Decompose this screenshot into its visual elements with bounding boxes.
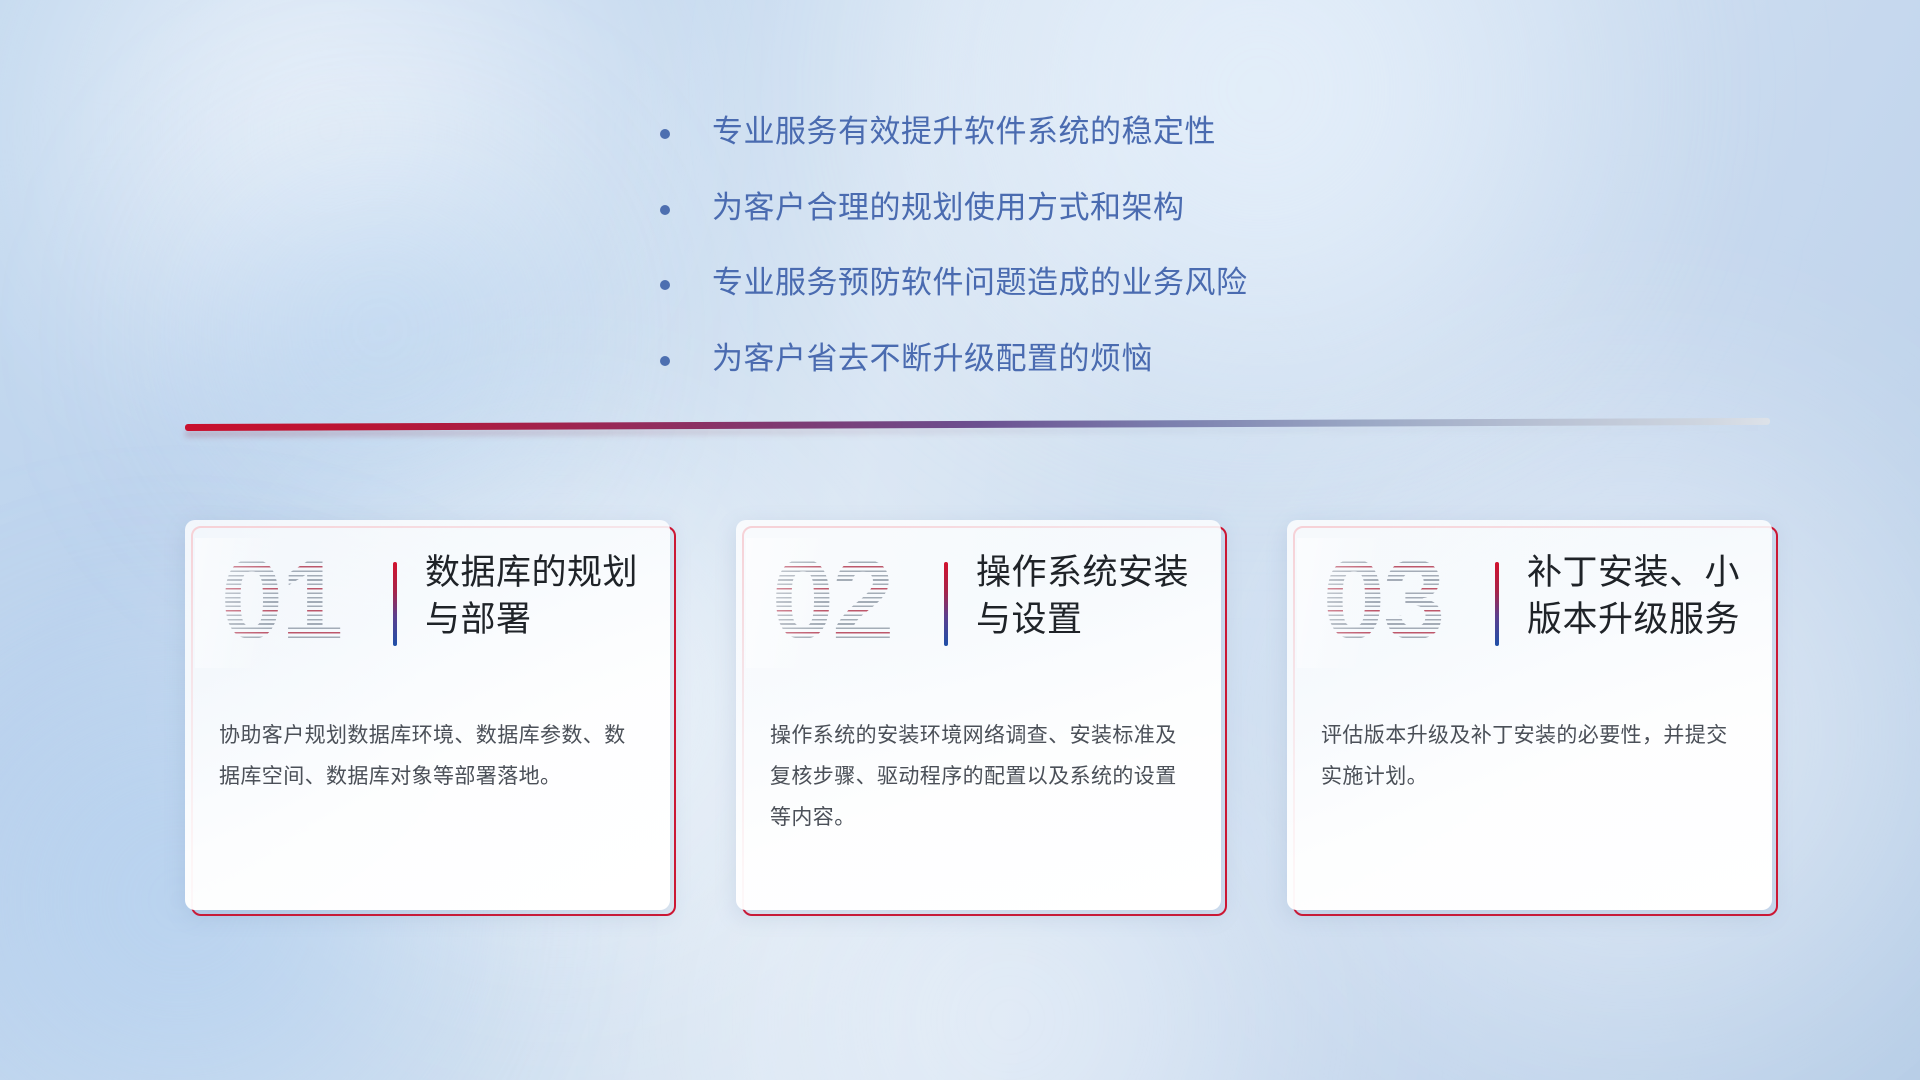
list-item: 为客户省去不断升级配置的烦恼 [660,339,1420,379]
card-number-ghost: 02 [754,544,910,660]
bullet-text: 专业服务预防软件问题造成的业务风险 [712,263,1248,303]
card-surface: 01 01 数据库的规划与部署 协助客户规划数据库环境、数据库参数、数据库空间、… [185,520,670,910]
card-title: 数据库的规划与部署 [425,550,645,643]
list-item: 专业服务有效提升软件系统的稳定性 [660,112,1420,152]
service-card-01[interactable]: 01 01 数据库的规划与部署 协助客户规划数据库环境、数据库参数、数据库空间、… [185,520,670,910]
bullet-dot-icon [660,129,670,139]
bullet-dot-icon [660,205,670,215]
card-title-rule [393,562,397,646]
card-header: 01 01 数据库的规划与部署 [185,520,670,692]
card-title-rule [1495,562,1499,646]
slide-root: 专业服务有效提升软件系统的稳定性 为客户合理的规划使用方式和架构 专业服务预防软… [0,0,1920,1080]
benefits-list: 专业服务有效提升软件系统的稳定性 为客户合理的规划使用方式和架构 专业服务预防软… [660,112,1420,415]
bullet-text: 为客户合理的规划使用方式和架构 [712,188,1185,228]
service-card-02[interactable]: 02 02 操作系统安装与设置 操作系统的安装环境网络调查、安装标准及复核步骤、… [736,520,1221,910]
list-item: 专业服务预防软件问题造成的业务风险 [660,263,1420,303]
card-surface: 02 02 操作系统安装与设置 操作系统的安装环境网络调查、安装标准及复核步骤、… [736,520,1221,910]
card-number-ghost: 01 [203,544,359,660]
card-number-ghost: 03 [1305,544,1461,660]
list-item: 为客户合理的规划使用方式和架构 [660,188,1420,228]
service-card-03[interactable]: 03 03 补丁安装、小版本升级服务 评估版本升级及补丁安装的必要性，并提交实施… [1287,520,1772,910]
card-surface: 03 03 补丁安装、小版本升级服务 评估版本升级及补丁安装的必要性，并提交实施… [1287,520,1772,910]
card-title: 补丁安装、小版本升级服务 [1527,550,1747,643]
card-description: 评估版本升级及补丁安装的必要性，并提交实施计划。 [1321,716,1739,798]
bullet-dot-icon [660,356,670,366]
card-description: 协助客户规划数据库环境、数据库参数、数据库空间、数据库对象等部署落地。 [219,716,637,798]
card-title-rule [944,562,948,646]
card-header: 03 03 补丁安装、小版本升级服务 [1287,520,1772,692]
bullet-text: 为客户省去不断升级配置的烦恼 [712,339,1153,379]
bullet-dot-icon [660,280,670,290]
bullet-text: 专业服务有效提升软件系统的稳定性 [712,112,1216,152]
card-description: 操作系统的安装环境网络调查、安装标准及复核步骤、驱动程序的配置以及系统的设置等内… [770,716,1188,839]
card-title: 操作系统安装与设置 [976,550,1196,643]
service-cards: 01 01 数据库的规划与部署 协助客户规划数据库环境、数据库参数、数据库空间、… [185,520,1785,940]
card-header: 02 02 操作系统安装与设置 [736,520,1221,692]
section-divider [185,424,1770,440]
